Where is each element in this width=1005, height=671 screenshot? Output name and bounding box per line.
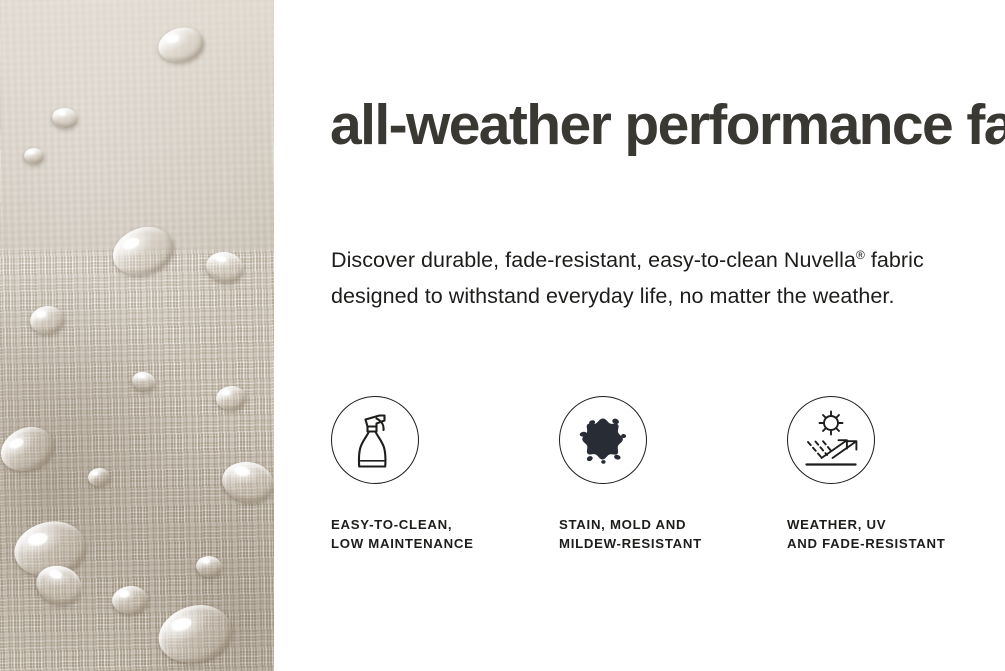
page-title: all-weather performance fabric bbox=[330, 92, 970, 159]
feature-weather-uv-resistant: WEATHER, UV AND FADE-RESISTANT bbox=[787, 396, 1005, 553]
body-copy: Discover durable, fade-resistant, easy-t… bbox=[331, 242, 951, 314]
spray-bottle-icon bbox=[331, 396, 419, 484]
content-panel: all-weather performance fabric Discover … bbox=[274, 0, 1005, 671]
feature-easy-to-clean: EASY-TO-CLEAN, LOW MAINTENANCE bbox=[331, 396, 551, 553]
registered-trademark-symbol: ® bbox=[856, 248, 865, 262]
fabric-water-beading-photo bbox=[0, 0, 274, 671]
feature-label: WEATHER, UV AND FADE-RESISTANT bbox=[787, 484, 1005, 553]
feature-label: STAIN, MOLD AND MILDEW-RESISTANT bbox=[559, 484, 779, 553]
stain-splat-icon bbox=[559, 396, 647, 484]
body-copy-part-1: Discover durable, fade-resistant, easy-t… bbox=[331, 248, 856, 272]
feature-label: EASY-TO-CLEAN, LOW MAINTENANCE bbox=[331, 484, 551, 553]
feature-list: EASY-TO-CLEAN, LOW MAINTENANCE bbox=[274, 396, 1005, 576]
all-weather-fabric-banner: all-weather performance fabric Discover … bbox=[0, 0, 1005, 671]
sun-uv-reflect-icon bbox=[787, 396, 875, 484]
feature-stain-resistant: STAIN, MOLD AND MILDEW-RESISTANT bbox=[559, 396, 779, 553]
